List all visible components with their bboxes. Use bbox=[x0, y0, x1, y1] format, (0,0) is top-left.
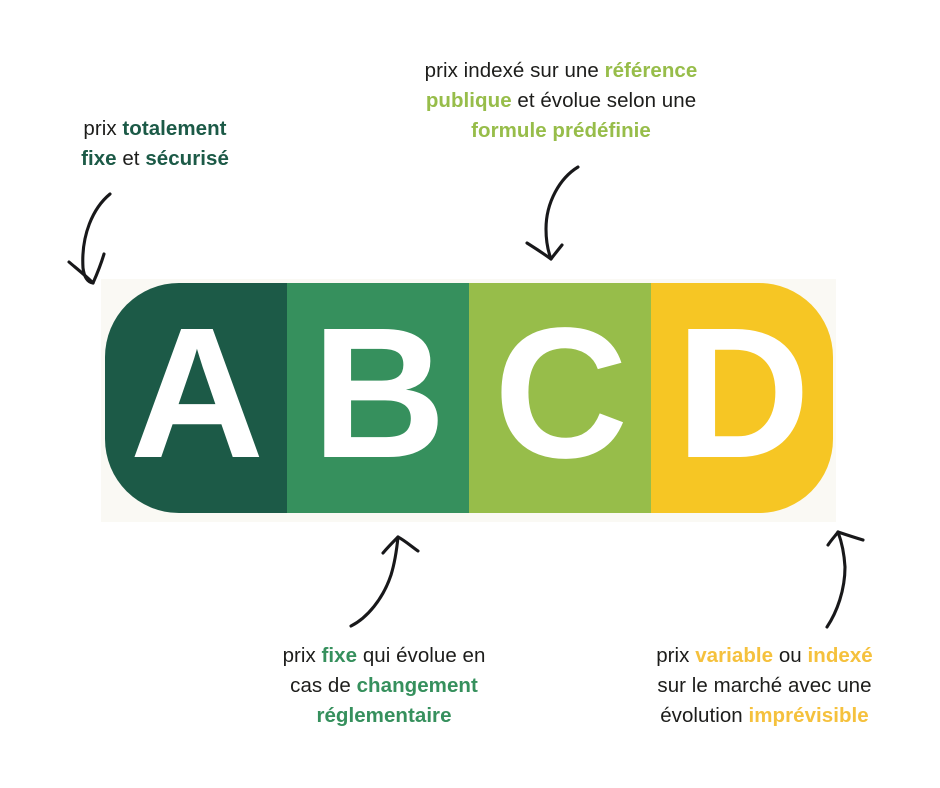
callout-c-line2-bold: changement bbox=[357, 674, 478, 697]
callout-c-line2-plain: cas de bbox=[290, 674, 356, 697]
callout-segment-a: prix totalement fixe et sécurisé bbox=[30, 114, 280, 174]
callout-d-line3-bold: imprévisible bbox=[749, 704, 869, 727]
arrow-to-segment-c-icon bbox=[527, 167, 578, 259]
callout-segment-c-top: prix indexé sur une référence publique e… bbox=[385, 56, 737, 146]
callout-c-line1-bold: fixe bbox=[322, 644, 358, 667]
callout-d-line3-plain: évolution bbox=[660, 704, 748, 727]
callout-b-line1-plain: prix indexé sur une bbox=[425, 59, 605, 82]
callout-a-line2-bold1: fixe bbox=[81, 147, 117, 170]
callout-segment-b: prix fixe qui évolue en cas de changemen… bbox=[239, 641, 529, 731]
callout-a-line2-bold2: sécurisé bbox=[145, 147, 229, 170]
callout-d-line2-plain: sur le marché avec une bbox=[657, 674, 871, 697]
segment-a[interactable]: A bbox=[105, 283, 287, 513]
callout-c-line1-plain1: prix bbox=[283, 644, 322, 667]
segment-a-letter: A bbox=[130, 301, 262, 487]
segment-d-letter: D bbox=[676, 301, 808, 487]
callout-a-line1-bold: totalement bbox=[122, 117, 226, 140]
arrow-to-segment-d-icon bbox=[827, 532, 863, 627]
callout-d-line1-bold1: variable bbox=[695, 644, 773, 667]
callout-b-line2-plain: et évolue selon une bbox=[512, 89, 697, 112]
segment-b[interactable]: B bbox=[287, 283, 469, 513]
segment-d[interactable]: D bbox=[651, 283, 833, 513]
callout-d-line1-bold2: indexé bbox=[808, 644, 873, 667]
callout-a-line2-plain: et bbox=[117, 147, 146, 170]
segment-c[interactable]: C bbox=[469, 283, 651, 513]
callout-b-line2-bold: publique bbox=[426, 89, 512, 112]
callout-b-line1-bold: référence bbox=[605, 59, 698, 82]
callout-b-line3-bold: formule prédéfinie bbox=[471, 119, 651, 142]
price-scale-bar: A B C D bbox=[105, 283, 833, 513]
segment-c-letter: C bbox=[494, 301, 626, 487]
callout-d-line1-plain2: ou bbox=[773, 644, 807, 667]
arrow-to-segment-b-icon bbox=[351, 537, 418, 626]
diagram-canvas: prix totalement fixe et sécurisé prix in… bbox=[0, 0, 940, 788]
segment-b-letter: B bbox=[312, 301, 444, 487]
callout-c-line3-bold: réglementaire bbox=[316, 704, 451, 727]
callout-d-line1-plain1: prix bbox=[656, 644, 695, 667]
callout-segment-d: prix variable ou indexé sur le marché av… bbox=[619, 641, 910, 731]
callout-a-line1-plain: prix bbox=[83, 117, 122, 140]
callout-c-line1-plain2: qui évolue en bbox=[357, 644, 485, 667]
arrow-to-segment-a-icon bbox=[69, 194, 110, 283]
